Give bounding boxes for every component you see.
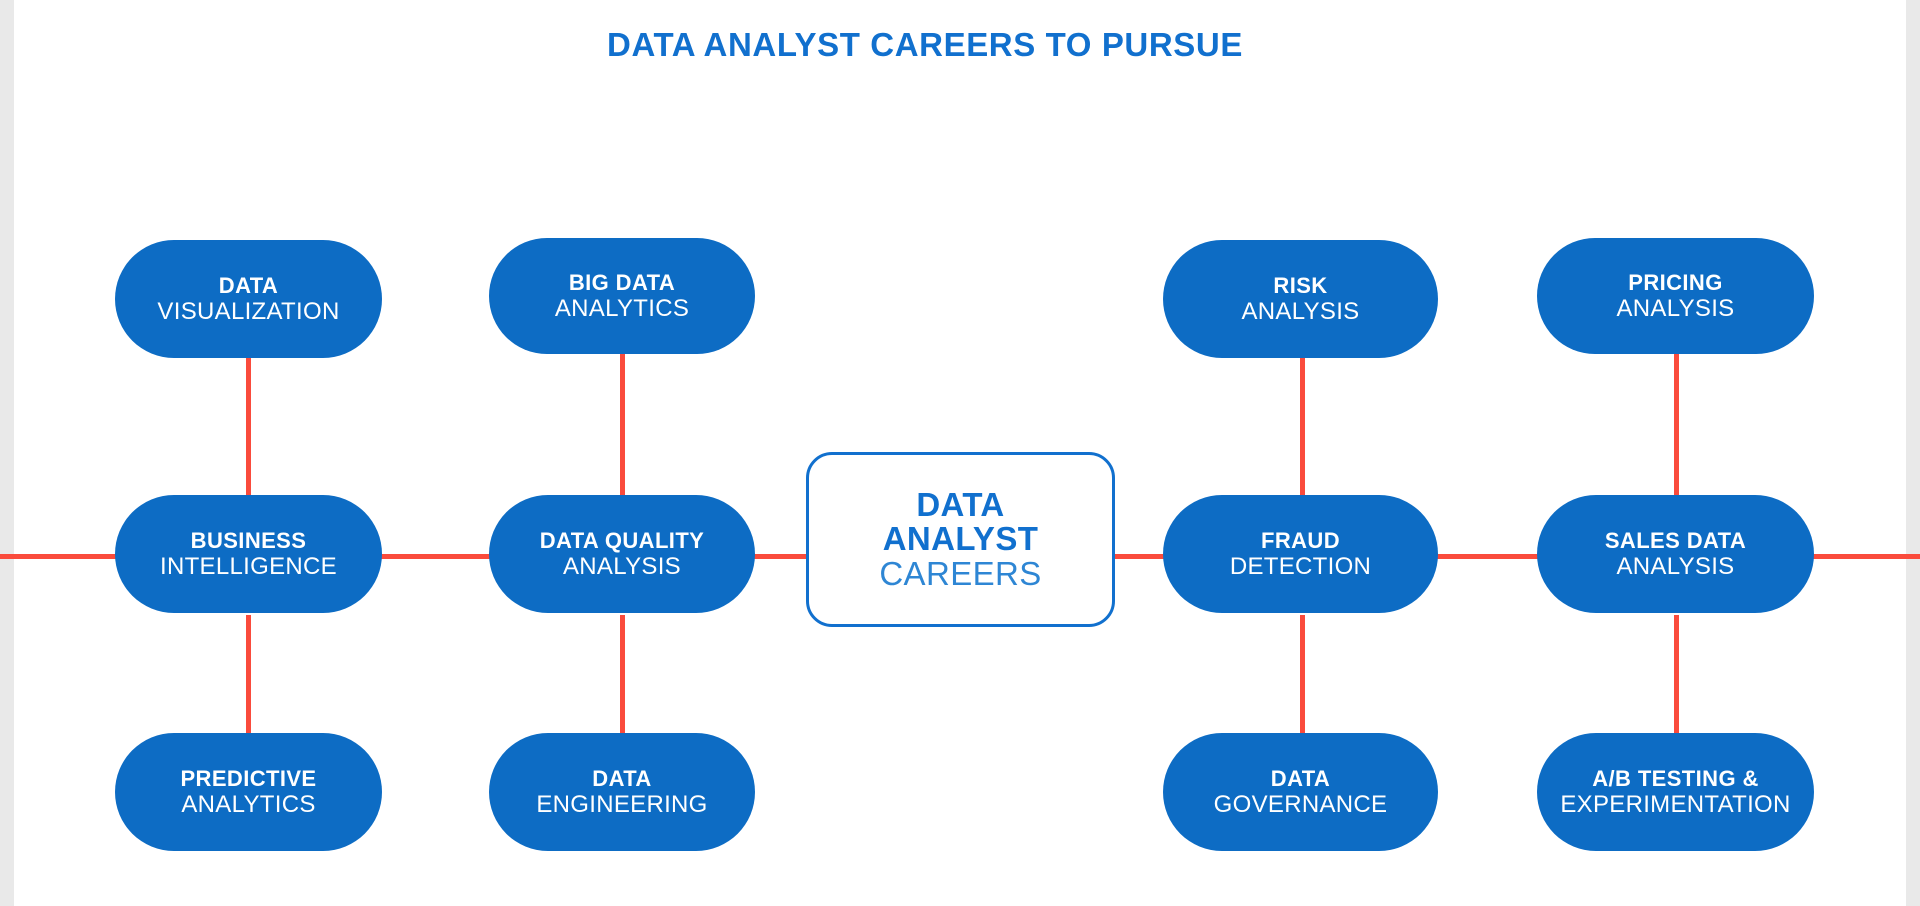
connector-spine-right [1813,554,1920,559]
node-line-2: VISUALIZATION [157,299,339,324]
center-line-2: ANALYST [883,522,1039,556]
connector-bigdata-dataquality [620,353,625,495]
node-line-2: DETECTION [1230,554,1371,579]
connector-col2-center [753,554,808,559]
node-line-1: BIG DATA [569,271,675,294]
node-fraud-detection[interactable]: FRAUD DETECTION [1163,495,1438,613]
connector-col3-col4 [1437,554,1541,559]
connector-center-col3 [1113,554,1165,559]
connector-dataviz-bi [246,355,251,495]
node-data-visualization[interactable]: DATA VISUALIZATION [115,240,382,358]
node-pricing-analysis[interactable]: PRICING ANALYSIS [1537,238,1814,354]
node-risk-analysis[interactable]: RISK ANALYSIS [1163,240,1438,358]
node-line-1: DATA [219,274,278,297]
node-center-data-analyst-careers[interactable]: DATA ANALYST CAREERS [806,452,1115,627]
node-line-1: BUSINESS [191,529,307,552]
center-line-1: DATA [916,488,1004,522]
node-big-data-analytics[interactable]: BIG DATA ANALYTICS [489,238,755,354]
node-line-2: ANALYTICS [181,792,315,817]
node-line-1: SALES DATA [1605,529,1746,552]
node-line-1: PRICING [1628,271,1722,294]
connector-spine-left [0,554,118,559]
connector-risk-fraud [1300,355,1305,495]
node-line-2: EXPERIMENTATION [1560,792,1790,817]
node-ab-testing-experimentation[interactable]: A/B TESTING & EXPERIMENTATION [1537,733,1814,851]
node-line-1: DATA [592,767,651,790]
node-line-2: ENGINEERING [536,792,707,817]
node-line-2: ANALYSIS [563,554,681,579]
connector-fraud-governance [1300,615,1305,735]
node-line-1: PREDICTIVE [180,767,316,790]
node-data-engineering[interactable]: DATA ENGINEERING [489,733,755,851]
node-line-2: ANALYSIS [1616,554,1734,579]
node-predictive-analytics[interactable]: PREDICTIVE ANALYTICS [115,733,382,851]
node-sales-data-analysis[interactable]: SALES DATA ANALYSIS [1537,495,1814,613]
node-line-1: RISK [1273,274,1327,297]
page-title: DATA ANALYST CAREERS TO PURSUE [0,26,1850,64]
node-line-1: DATA [1271,767,1330,790]
node-business-intelligence[interactable]: BUSINESS INTELLIGENCE [115,495,382,613]
node-data-governance[interactable]: DATA GOVERNANCE [1163,733,1438,851]
node-line-2: ANALYTICS [555,296,689,321]
node-line-1: DATA QUALITY [540,529,704,552]
node-line-2: INTELLIGENCE [160,554,337,579]
center-line-3: CAREERS [879,557,1041,591]
connector-sales-abtesting [1674,615,1679,735]
node-line-1: FRAUD [1261,529,1340,552]
connector-bi-predictive [246,615,251,735]
node-data-quality-analysis[interactable]: DATA QUALITY ANALYSIS [489,495,755,613]
diagram-canvas: DATA ANALYST CAREERS TO PURSUE DATA VISU… [0,0,1920,906]
node-line-2: ANALYSIS [1241,299,1359,324]
node-line-2: ANALYSIS [1616,296,1734,321]
connector-pricing-sales [1674,353,1679,495]
node-line-1: A/B TESTING & [1592,767,1759,790]
node-line-2: GOVERNANCE [1214,792,1388,817]
connector-dataquality-dataeng [620,615,625,735]
connector-col1-col2 [378,554,490,559]
